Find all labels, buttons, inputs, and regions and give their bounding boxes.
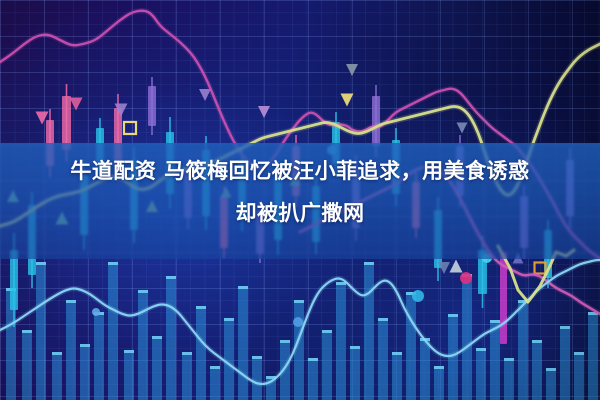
banner-image: 牛道配资 马筱梅回忆被汪小菲追求，用美食诱惑 却被扒广撒网	[0, 0, 600, 400]
line-series-glow	[0, 260, 600, 384]
page-title: 牛道配资 马筱梅回忆被汪小菲追求，用美食诱惑 却被扒广撒网	[0, 150, 600, 234]
line-series-cyan-volume-trend	[0, 260, 600, 384]
